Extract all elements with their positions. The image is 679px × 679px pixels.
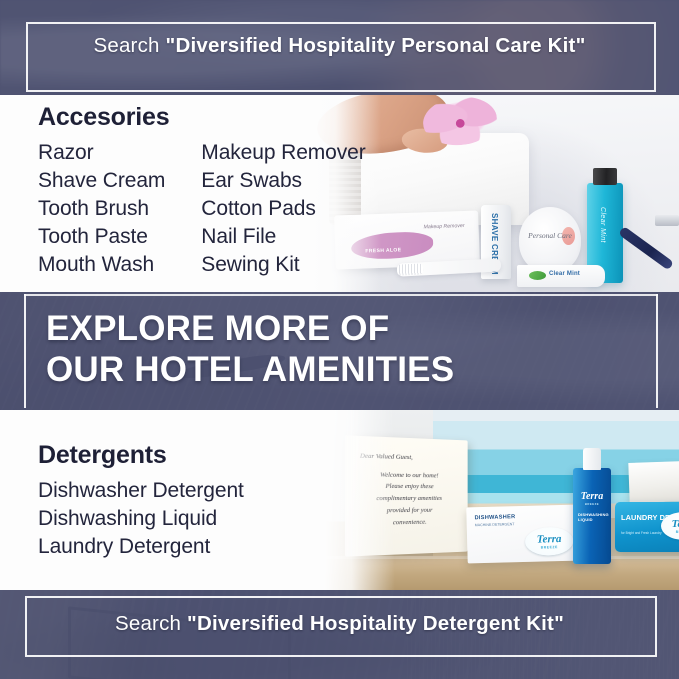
detergents-heading: Detergents	[38, 442, 244, 470]
list-item: Ear Swabs	[201, 167, 365, 195]
brand-name: Terra	[581, 491, 603, 502]
card-line-6: convenience.	[356, 516, 461, 530]
list-item: Tooth Brush	[38, 195, 165, 223]
terra-breeze-logo: Terra BREEZE	[577, 488, 607, 508]
brand-name: Terra	[672, 518, 679, 530]
explore-more-banner: EXPLORE MORE OF OUR HOTEL AMENITIES	[0, 292, 679, 410]
card-line-3: Please enjoy these	[356, 481, 461, 493]
explore-more-line-2: OUR HOTEL AMENITIES	[46, 350, 454, 391]
list-item: Tooth Paste	[38, 223, 165, 251]
photo-toothpaste-tube: Clear Mint	[517, 265, 605, 287]
list-item: Laundry Detergent	[38, 533, 244, 561]
card-line-1: Dear Valued Guest,	[356, 450, 461, 465]
brand-sub: BREEZE	[541, 545, 558, 549]
top-search-query: "Diversified Hospitality Personal Care K…	[166, 34, 586, 57]
photo-dishwasher-packet: DISHWASHER MACHINE DETERGENT Terra BREEZ…	[466, 505, 579, 564]
photo-folded-towels	[628, 461, 679, 503]
list-item: Nail File	[201, 223, 365, 251]
detergents-list: Dishwasher Detergent Dishwashing Liquid …	[38, 477, 244, 561]
card-line-4: complimentary amenities	[356, 493, 461, 505]
accessories-heading: Accesories	[38, 104, 366, 132]
explore-more-line-1: EXPLORE MORE OF	[46, 309, 454, 350]
accessories-columns: Razor Shave Cream Tooth Brush Tooth Past…	[38, 139, 366, 280]
photo-welcome-card: Dear Valued Guest, Welcome to our home! …	[345, 435, 468, 556]
card-line-2: Welcome to our home!	[356, 469, 461, 482]
detergents-copy: Detergents Dishwasher Detergent Dishwash…	[38, 442, 244, 561]
bottom-search-query: "Diversified Hospitality Detergent Kit"	[187, 612, 564, 635]
photo-pack-sub: MACHINE DETERGENT	[475, 522, 515, 529]
photo-laundry-sub: for Bright and Fresh Laundry	[621, 531, 662, 535]
photo-toothpaste-label: Clear Mint	[549, 271, 580, 277]
accessories-section: FRESH ALOE Makeup Remover SHAVE CREAM Pe…	[0, 95, 679, 292]
photo-dishwashing-liquid-bottle: Terra BREEZE DISHWASHING LIQUID	[573, 468, 611, 564]
photo-wipe-title-label: Makeup Remover	[424, 223, 465, 230]
detergents-product-photo: Dear Valued Guest, Welcome to our home! …	[325, 410, 679, 590]
top-search-text: Search "Diversified Hospitality Personal…	[0, 34, 679, 58]
top-search-banner: Search "Diversified Hospitality Personal…	[0, 0, 679, 95]
terra-breeze-logo: Terra BREEZE	[525, 527, 574, 556]
list-item: Cotton Pads	[201, 195, 365, 223]
explore-more-headline: EXPLORE MORE OF OUR HOTEL AMENITIES	[46, 309, 454, 390]
list-item: Dishwasher Detergent	[38, 477, 244, 505]
list-item: Shave Cream	[38, 167, 165, 195]
accessories-copy: Accesories Razor Shave Cream Tooth Brush…	[38, 104, 366, 279]
mid-banner-top-rule	[24, 294, 658, 296]
photo-laundry-detergent-pouch: LAUNDRY DETERGENT for Bright and Fresh L…	[615, 502, 679, 552]
bottom-search-text: Search "Diversified Hospitality Detergen…	[0, 612, 679, 636]
bottom-search-banner: Search "Diversified Hospitality Detergen…	[0, 590, 679, 679]
list-item: Makeup Remover	[201, 139, 365, 167]
amenities-infographic: Search "Diversified Hospitality Personal…	[0, 0, 679, 679]
list-item: Dishwashing Liquid	[38, 505, 244, 533]
top-search-lead: Search	[93, 34, 159, 57]
accessories-column-right: Makeup Remover Ear Swabs Cotton Pads Nai…	[201, 139, 365, 280]
accessories-product-photo: FRESH ALOE Makeup Remover SHAVE CREAM Pe…	[311, 95, 679, 292]
list-item: Razor	[38, 139, 165, 167]
bottom-search-lead: Search	[115, 612, 181, 635]
photo-mouthwash-label: Clear Mint	[599, 207, 606, 243]
accessories-column-left: Razor Shave Cream Tooth Brush Tooth Past…	[38, 139, 165, 280]
detergents-section: Dear Valued Guest, Welcome to our home! …	[0, 410, 679, 590]
photo-pack-title: DISHWASHER	[474, 514, 515, 521]
photo-wipe-brand-label: FRESH ALOE	[365, 247, 401, 254]
photo-personal-care-soap: Personal Care	[519, 207, 581, 273]
photo-razor	[621, 217, 679, 279]
brand-name: Terra	[537, 533, 562, 546]
photo-soap-label: Personal Care	[519, 231, 581, 240]
photo-liquid-title: DISHWASHING LIQUID	[578, 512, 611, 522]
photo-welcome-card-text: Dear Valued Guest, Welcome to our home! …	[356, 450, 461, 529]
list-item: Mouth Wash	[38, 251, 165, 279]
list-item: Sewing Kit	[201, 251, 365, 279]
brand-sub: BREEZE	[585, 502, 599, 506]
